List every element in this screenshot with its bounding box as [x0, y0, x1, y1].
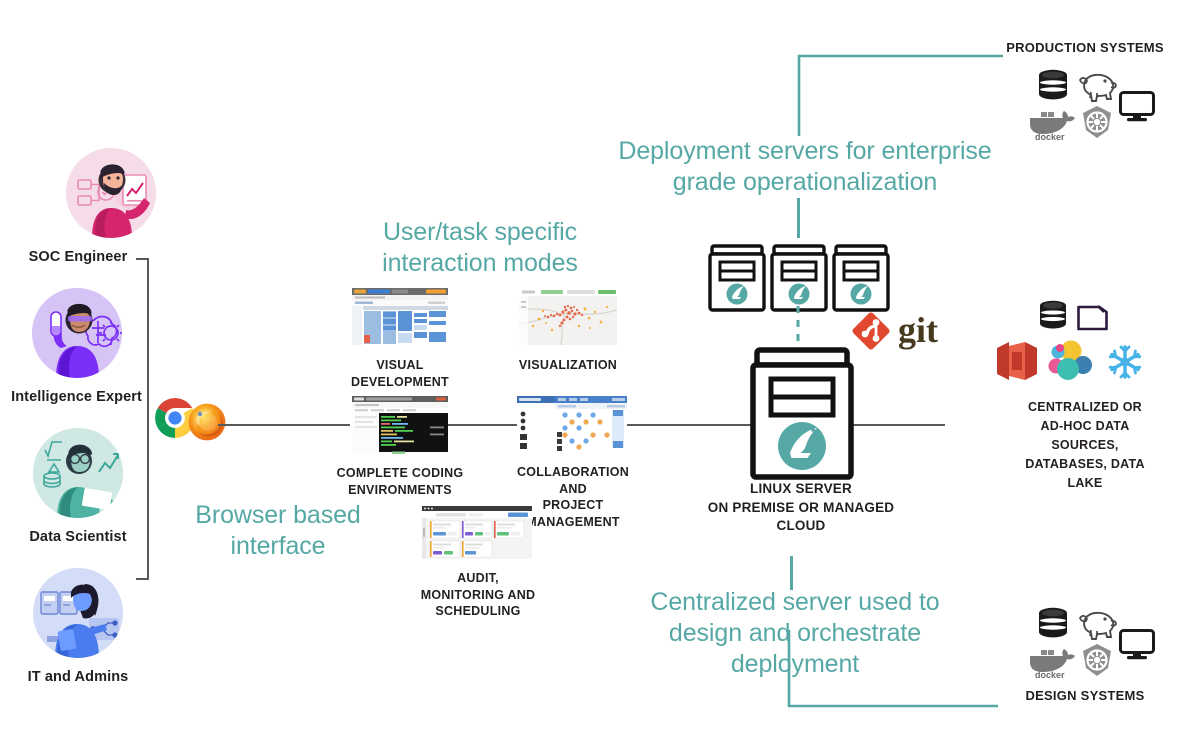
persona-label: Data Scientist [8, 529, 148, 545]
deployment-server-1[interactable] [708, 244, 766, 317]
note-line: User/task specific [340, 217, 620, 248]
visual-development-thumbnail[interactable] [352, 288, 448, 345]
coding-environment-thumbnail[interactable] [352, 396, 448, 454]
note-browser-interface: Browser based interface [165, 500, 391, 562]
database-icon [1037, 69, 1069, 103]
persona-soc-engineer[interactable]: SOC Engineer [8, 148, 148, 265]
visualization-thumbnail[interactable] [519, 288, 617, 345]
note-interaction-modes: User/task specific interaction modes [340, 217, 620, 279]
module-complete-coding[interactable]: COMPLETE CODING ENVIRONMENTS [330, 396, 470, 498]
it-admins-illustration [33, 568, 123, 658]
group-data-sources[interactable]: CENTRALIZED OR AD-HOC DATA SOURCES, DATA… [985, 300, 1185, 493]
persona-label: IT and Admins [8, 669, 148, 685]
avatar [32, 288, 122, 378]
firefox-icon[interactable] [188, 403, 226, 441]
hadoop-icon [1075, 608, 1119, 640]
note-deployment-servers: Deployment servers for enterprise grade … [600, 136, 1010, 198]
note-line: Browser based [165, 500, 391, 531]
test-tube [51, 312, 61, 336]
note-line: design and orchestrate [625, 618, 965, 649]
redshift-icon [995, 340, 1039, 382]
file-icon [1076, 302, 1110, 332]
kubernetes-icon [1080, 643, 1114, 677]
module-audit-monitoring[interactable]: AUDIT, MONITORING AND SCHEDULING [408, 506, 548, 620]
elasticsearch-icon [1047, 340, 1093, 382]
persona-label: Intelligence Expert [4, 389, 149, 405]
module-label: VISUALIZATION [500, 357, 636, 374]
linux-server[interactable] [750, 347, 854, 490]
hadoop-icon [1075, 70, 1119, 102]
persona-intelligence-expert[interactable]: Intelligence Expert [4, 288, 149, 405]
svg-text:docker: docker [1035, 132, 1065, 141]
data-scientist-illustration [33, 428, 123, 518]
database-icon [1038, 300, 1068, 332]
note-line: Deployment servers for enterprise [600, 136, 1010, 167]
linux-server-label: LINUX SERVER ON PREMISE OR MANAGED CLOUD [690, 480, 912, 536]
architecture-diagram: SOC Engineer [0, 0, 1204, 740]
note-line: grade operationalization [600, 167, 1010, 198]
note-line: interaction modes [340, 248, 620, 279]
group-design-systems[interactable]: docker DESIGN SYSTEMS [985, 605, 1185, 705]
connector-server-to-bottom-note-stub [790, 556, 793, 590]
connector-deployment-note-stub [797, 198, 800, 238]
note-line: Centralized server used to [625, 587, 965, 618]
avatar [33, 428, 123, 518]
persona-data-scientist[interactable]: Data Scientist [8, 428, 148, 545]
monitor-icon [1119, 91, 1155, 123]
docker-icon: docker [1027, 645, 1079, 679]
git-logo: git [848, 306, 946, 359]
group-label: PRODUCTION SYSTEMS [985, 40, 1185, 57]
note-line: deployment [625, 649, 965, 680]
group-label: DESIGN SYSTEMS [985, 688, 1185, 705]
module-label: COMPLETE CODING ENVIRONMENTS [330, 465, 470, 498]
module-label: AUDIT, MONITORING AND SCHEDULING [408, 570, 548, 620]
module-visual-development[interactable]: VISUAL DEVELOPMENT [330, 288, 470, 390]
note-centralized-server: Centralized server used to design and or… [625, 587, 965, 680]
backbone-line-segment-4 [843, 424, 945, 426]
docker-icon: docker [1027, 107, 1079, 141]
persona-it-and-admins[interactable]: IT and Admins [8, 568, 148, 685]
git-text: git [898, 310, 938, 350]
connector-production-systems [795, 52, 1005, 141]
snowflake-icon [1105, 342, 1145, 382]
svg-text:docker: docker [1035, 670, 1065, 679]
note-line: interface [165, 531, 391, 562]
audit-dashboard-thumbnail[interactable] [422, 506, 532, 559]
module-label: VISUAL DEVELOPMENT [330, 357, 470, 390]
avatar [33, 568, 123, 658]
kubernetes-icon [1080, 105, 1114, 139]
collaboration-thumbnail[interactable] [517, 396, 627, 453]
backbone-line-segment-3 [625, 424, 762, 426]
persona-label: SOC Engineer [8, 249, 148, 265]
module-visualization[interactable]: VISUALIZATION [500, 288, 636, 374]
intelligence-expert-illustration [32, 288, 122, 378]
soc-engineer-illustration [66, 148, 156, 238]
group-production-systems[interactable]: PRODUCTION SYSTEMS [985, 40, 1185, 142]
database-icon [1037, 607, 1069, 641]
group-label: CENTRALIZED OR AD-HOC DATA SOURCES, DATA… [985, 398, 1185, 493]
monitor-icon [1119, 629, 1155, 661]
avatar [66, 148, 156, 238]
